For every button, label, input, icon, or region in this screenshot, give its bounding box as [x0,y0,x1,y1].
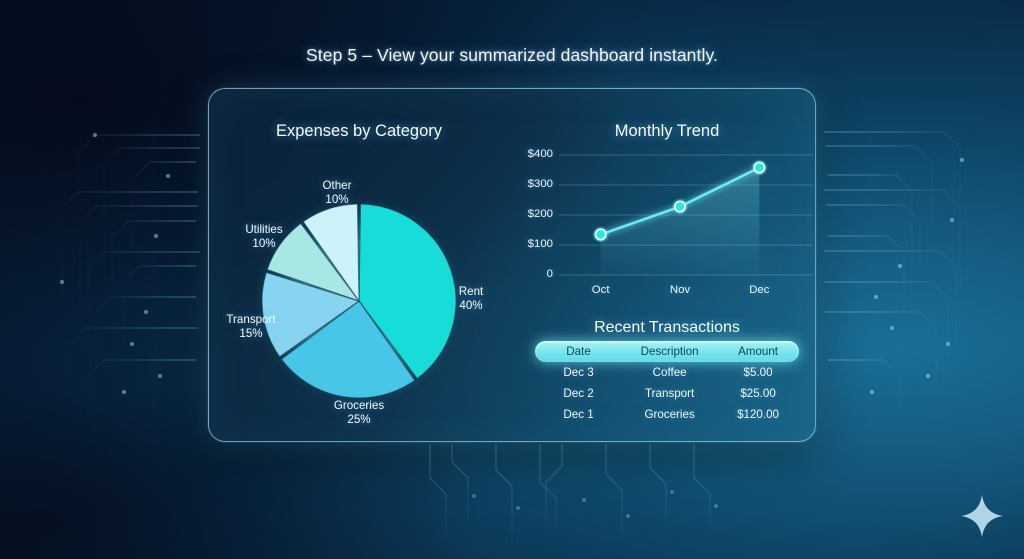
pie-label-name: Groceries [334,399,384,412]
cell-amount: $5.00 [717,366,799,379]
pie-label-name: Rent [459,285,484,298]
pie-label-name: Utilities [245,223,282,236]
pie-label-rent: Rent40% [436,285,506,312]
line-chart: 0$100$200$300$400OctNovDec [509,145,816,305]
page-title: Step 5 – View your summarized dashboard … [0,45,1024,66]
transactions-table: Date Description Amount Dec 3Coffee$5.00… [517,341,816,425]
table-row[interactable]: Dec 2Transport$25.00 [535,383,799,404]
pie-label-transport: Transport15% [208,313,296,340]
pie-label-value: 10% [224,237,304,251]
pie-label-name: Transport [226,313,275,326]
pie-chart: Rent40%Groceries25%Transport15%Utilities… [209,151,509,442]
data-point-nov[interactable] [675,201,685,211]
pie-label-name: Other [323,179,352,192]
column-header-description: Description [622,345,717,358]
table-header-row: Date Description Amount [535,341,799,362]
table-row[interactable]: Dec 1Groceries$120.00 [535,404,799,425]
x-axis-label-oct: Oct [575,284,627,296]
y-axis-label: $100 [509,238,553,250]
y-axis-label: 0 [509,268,553,280]
pie-label-value: 25% [309,413,409,427]
cell-date: Dec 1 [535,408,622,421]
dashboard-card: Expenses by Category Monthly Trend Recen… [208,88,816,442]
sparkle-icon [958,492,1006,540]
cell-description: Transport [622,387,717,400]
pie-label-value: 15% [208,327,296,341]
cell-date: Dec 2 [535,387,622,400]
cell-description: Coffee [622,366,717,379]
pie-label-utilities: Utilities10% [224,223,304,250]
y-axis-label: $400 [509,148,553,160]
transactions-title: Recent Transactions [517,319,816,337]
pie-chart-title: Expenses by Category [209,122,509,141]
x-axis-label-dec: Dec [733,284,785,296]
data-point-dec[interactable] [754,162,764,172]
column-header-amount: Amount [717,345,799,358]
pie-label-value: 40% [436,299,506,313]
cell-amount: $25.00 [717,387,799,400]
y-axis-label: $300 [509,178,553,190]
pie-label-groceries: Groceries25% [309,399,409,426]
line-chart-title: Monthly Trend [517,122,816,141]
cell-amount: $120.00 [717,408,799,421]
cell-description: Groceries [622,408,717,421]
data-point-oct[interactable] [595,229,605,239]
pie-label-value: 10% [302,193,372,207]
cell-date: Dec 3 [535,366,622,379]
line-chart-svg [509,145,816,305]
x-axis-label-nov: Nov [654,284,706,296]
y-axis-label: $200 [509,208,553,220]
table-row[interactable]: Dec 3Coffee$5.00 [535,362,799,383]
column-header-date: Date [535,345,622,358]
pie-label-other: Other10% [302,179,372,206]
